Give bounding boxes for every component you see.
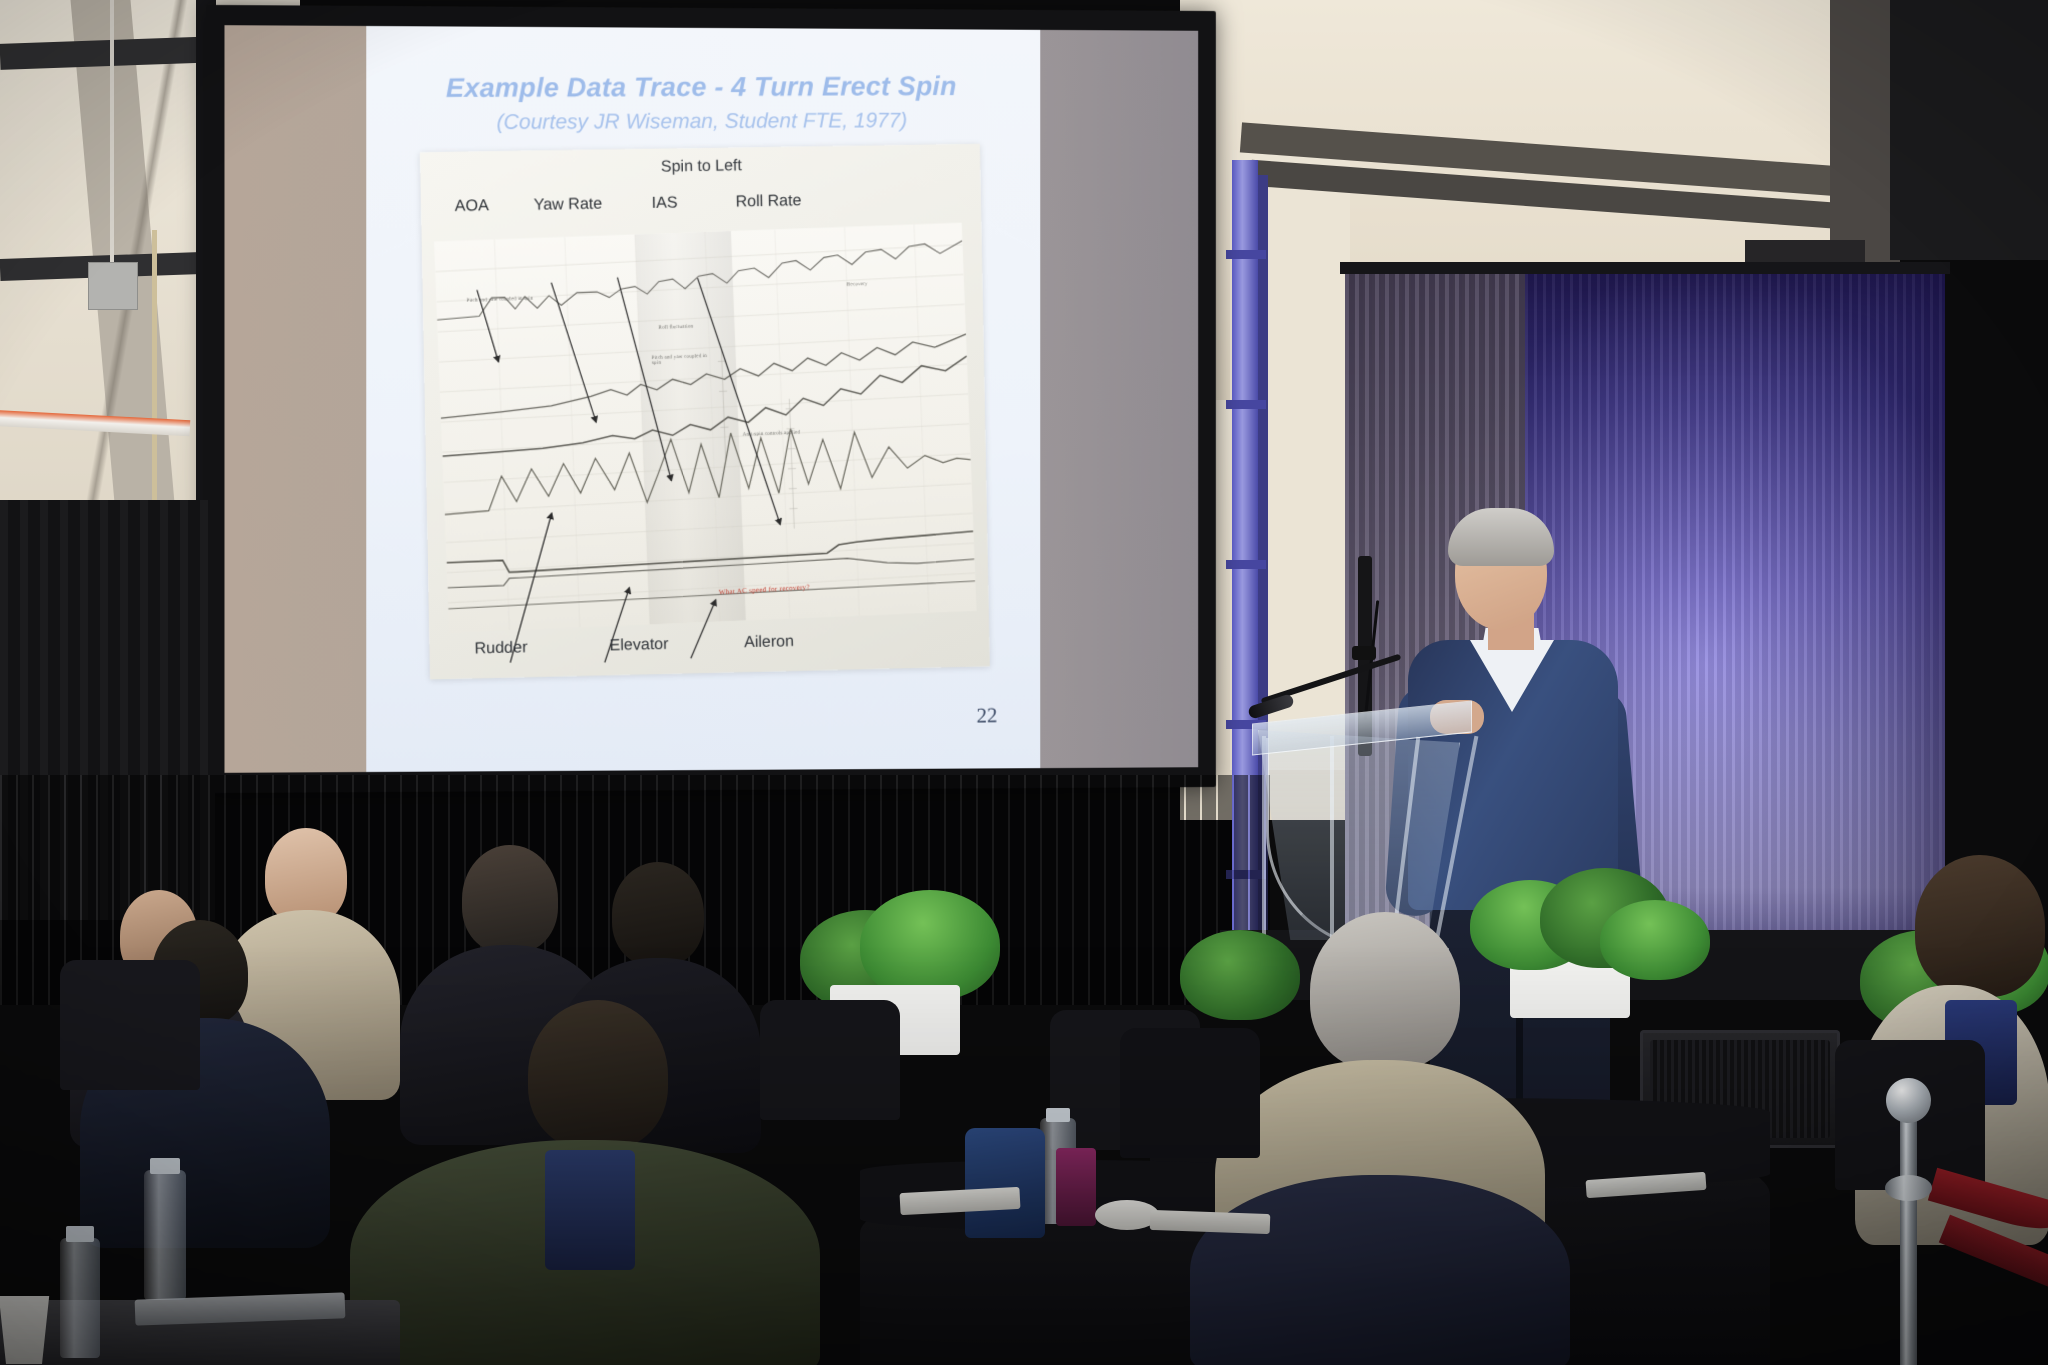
- photograph-scene: Example Data Trace - 4 Turn Erect Spin (…: [0, 0, 2048, 1365]
- truss-rung: [1226, 400, 1266, 409]
- truss-rung: [1226, 250, 1266, 259]
- chair-back: [60, 960, 200, 1090]
- projection-screen: Example Data Trace - 4 Turn Erect Spin (…: [206, 5, 1216, 793]
- audience-head: [612, 862, 704, 966]
- chart-label-elevator: Elevator: [609, 636, 668, 655]
- bottle-cap: [66, 1226, 94, 1242]
- chart-label-aileron: Aileron: [744, 633, 794, 652]
- electrical-box: [88, 262, 138, 310]
- screen-unlit-area: [224, 25, 366, 773]
- audience-shoulders: [1190, 1175, 1570, 1365]
- water-bottle: [144, 1170, 186, 1300]
- audience-head: [1310, 912, 1460, 1070]
- projected-slide: Example Data Trace - 4 Turn Erect Spin (…: [366, 26, 1040, 772]
- strip-chart-figure: Spin to Left AOA Yaw Rate IAS Roll Rate: [420, 144, 990, 680]
- stanchion-rope-ring: [1885, 1175, 1932, 1201]
- drape-support-rod: [1340, 262, 1950, 274]
- drink-can: [1056, 1148, 1096, 1226]
- plant-foliage: [1180, 930, 1300, 1020]
- plant-foliage: [1600, 900, 1710, 980]
- chair-back: [1120, 1028, 1260, 1158]
- audience-head: [1915, 855, 2045, 997]
- bottle-cap: [150, 1158, 180, 1174]
- tote-bag: [965, 1128, 1045, 1238]
- audience-head: [462, 845, 558, 953]
- chart-leader-arrows: [437, 204, 974, 684]
- chart-label-rudder: Rudder: [474, 639, 527, 658]
- slide-subtitle: (Courtesy JR Wiseman, Student FTE, 1977): [366, 109, 1038, 136]
- bottle-cap: [1046, 1108, 1070, 1122]
- paper-handout: [1150, 1210, 1271, 1234]
- microphone-clamp: [1352, 646, 1376, 660]
- conduit: [110, 0, 114, 265]
- screen-unlit-area: [1040, 30, 1198, 768]
- slide-title: Example Data Trace - 4 Turn Erect Spin: [366, 71, 1037, 105]
- audience-lanyard: [545, 1150, 635, 1270]
- water-bottle: [60, 1238, 100, 1358]
- audience-head: [528, 1000, 668, 1150]
- stanchion-post: [1900, 1100, 1917, 1365]
- hangar-beam: [1890, 0, 2048, 260]
- chart-title: Spin to Left: [420, 154, 980, 181]
- slide-page-number: 22: [977, 703, 998, 728]
- chair-back: [760, 1000, 900, 1120]
- truss-rung: [1226, 560, 1266, 569]
- screen-surface: Example Data Trace - 4 Turn Erect Spin (…: [224, 25, 1198, 773]
- plant-foliage: [860, 890, 1000, 1000]
- stanchion-finial: [1886, 1078, 1931, 1123]
